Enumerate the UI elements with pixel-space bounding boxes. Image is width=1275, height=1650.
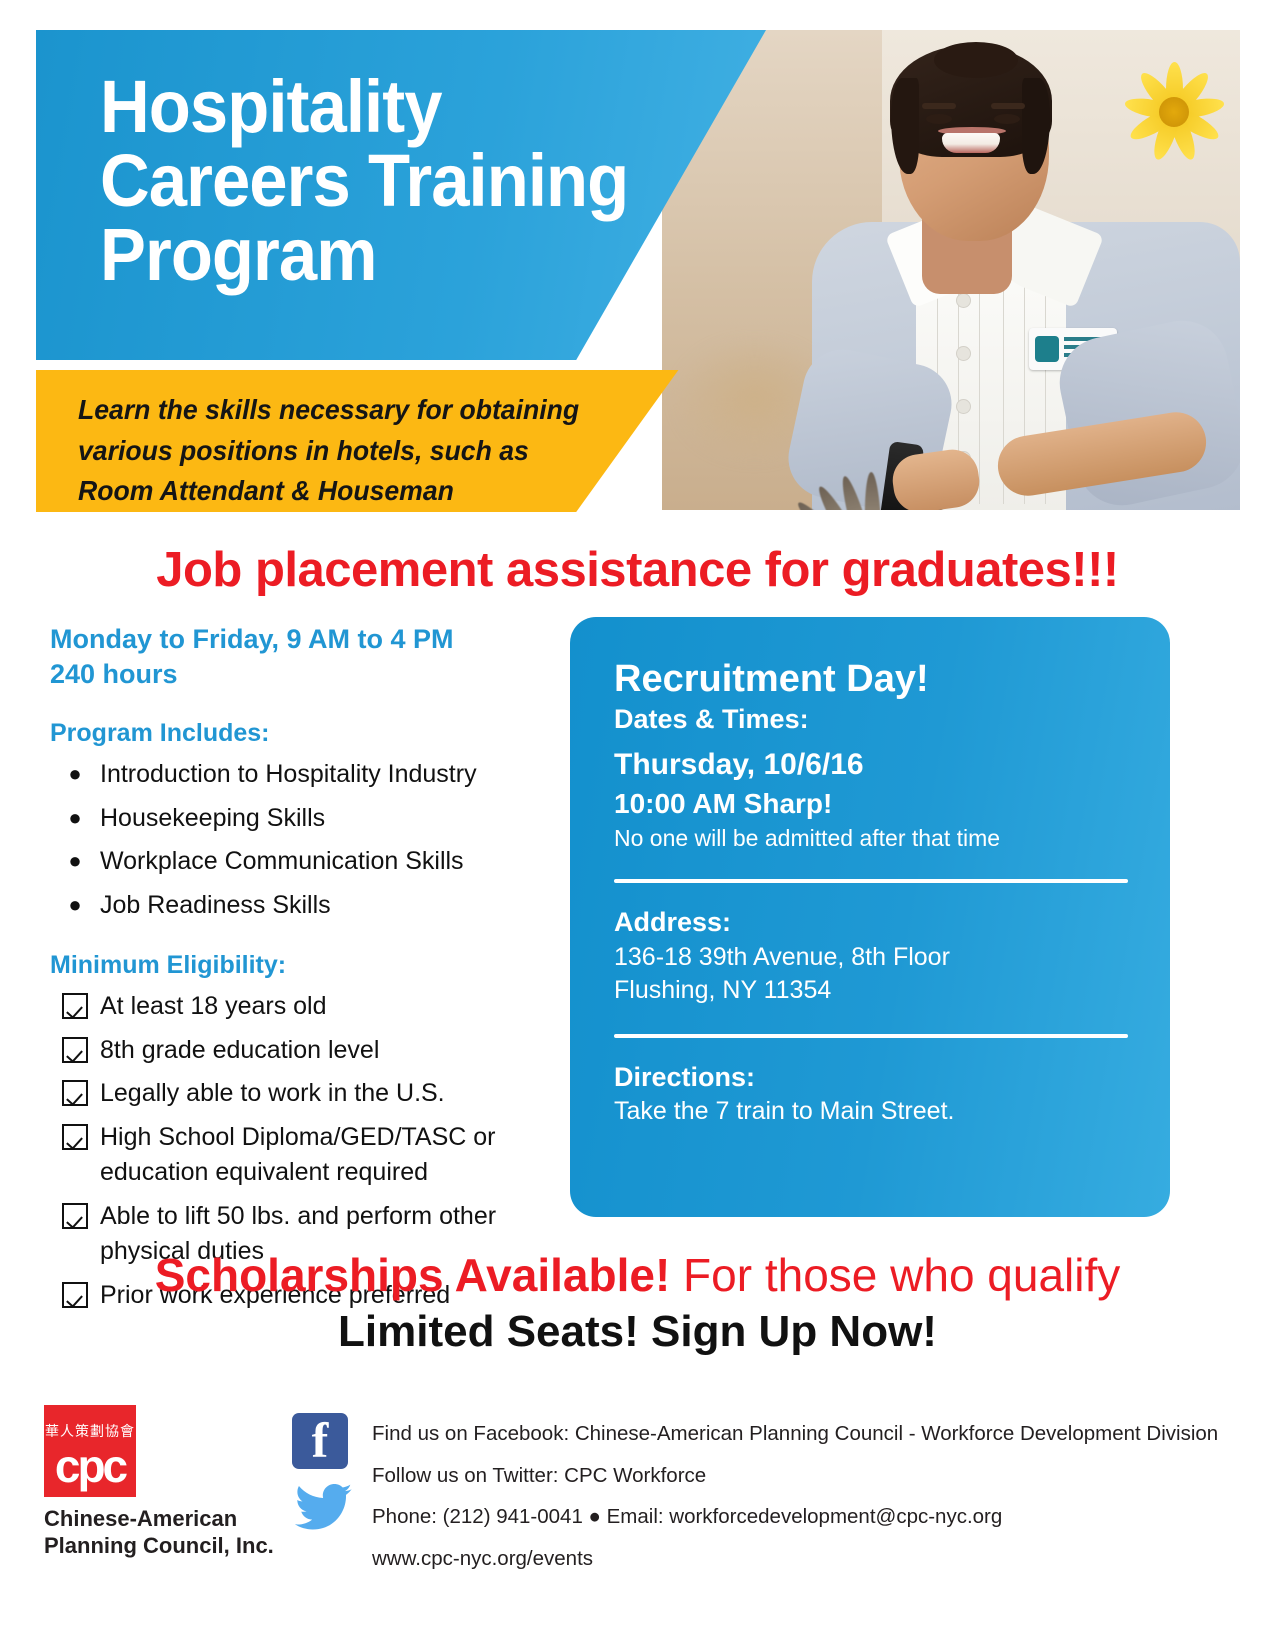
- divider: [614, 1034, 1128, 1038]
- checkbox-checked-icon: [50, 1076, 100, 1106]
- cpc-logo-hanzi: 華人策劃協會: [44, 1421, 136, 1441]
- job-placement-banner: Job placement assistance for graduates!!…: [0, 542, 1275, 598]
- scholarship-regular: For those who qualify: [670, 1249, 1120, 1301]
- directions-label: Directions:: [614, 1060, 1128, 1095]
- address-line-2: Flushing, NY 11354: [614, 974, 1128, 1008]
- program-includes-list: ● Introduction to Hospitality Industry ●…: [50, 757, 550, 923]
- smile: [942, 133, 1000, 153]
- list-item: ● Housekeeping Skills: [50, 801, 550, 837]
- program-item-label: Workplace Communication Skills: [100, 844, 550, 880]
- eligibility-item-label: At least 18 years old: [100, 989, 550, 1025]
- title-line-2: Careers Training: [100, 144, 751, 218]
- title-line-1: Hospitality: [100, 70, 751, 144]
- checkbox-checked-icon: [50, 1199, 100, 1229]
- eligibility-item-label: High School Diploma/GED/TASC or educatio…: [100, 1120, 550, 1191]
- recruitment-day-box: Recruitment Day! Dates & Times: Thursday…: [570, 617, 1170, 1217]
- directions-line: Take the 7 train to Main Street.: [614, 1095, 1128, 1129]
- list-item: ● Workplace Communication Skills: [50, 844, 550, 880]
- bullet-icon: ●: [50, 844, 100, 877]
- social-icons: [292, 1413, 356, 1535]
- eligibility-item-label: 8th grade education level: [100, 1033, 550, 1069]
- bullet-icon: ●: [50, 888, 100, 921]
- subtitle-line-1: Learn the skills necessary for obtaining: [78, 390, 686, 431]
- schedule-line-2: 240 hours: [50, 657, 550, 692]
- cpc-logo: 華人策劃協會 cpc Chinese-American Planning Cou…: [44, 1405, 289, 1560]
- cpc-org-name-line-1: Chinese-American: [44, 1506, 289, 1533]
- scholarship-bold: Scholarships Available!: [155, 1249, 671, 1301]
- bullet-icon: ●: [50, 757, 100, 790]
- recruitment-date: Thursday, 10/6/16: [614, 745, 1128, 785]
- schedule-block: Monday to Friday, 9 AM to 4 PM 240 hours: [50, 622, 550, 691]
- website-line[interactable]: www.cpc-nyc.org/events: [372, 1538, 1232, 1580]
- recruitment-time: 10:00 AM Sharp!: [614, 785, 1128, 823]
- facebook-icon[interactable]: [292, 1413, 348, 1469]
- checkbox-checked-icon: [50, 1033, 100, 1063]
- schedule-line-1: Monday to Friday, 9 AM to 4 PM: [50, 622, 550, 657]
- subtitle-line-2: various positions in hotels, such as: [78, 431, 686, 472]
- scholarship-line: Scholarships Available! For those who qu…: [0, 1248, 1275, 1302]
- title-line-3: Program: [100, 218, 751, 292]
- cpc-logo-letters: cpc: [44, 1443, 136, 1489]
- list-item: ● Introduction to Hospitality Industry: [50, 757, 550, 793]
- address-label: Address:: [614, 905, 1128, 940]
- scholarship-block: Scholarships Available! For those who qu…: [0, 1248, 1275, 1359]
- header-section: Hospitality Careers Training Program Lea…: [0, 0, 1275, 520]
- eligibility-item-label: Legally able to work in the U.S.: [100, 1076, 550, 1112]
- dates-times-label: Dates & Times:: [614, 701, 1128, 737]
- bullet-icon: ●: [50, 801, 100, 834]
- subtitle-line-3: Room Attendant & Houseman: [78, 471, 686, 512]
- page-title: Hospitality Careers Training Program: [100, 70, 751, 292]
- divider: [614, 879, 1128, 883]
- program-includes-heading: Program Includes:: [50, 717, 550, 749]
- program-item-label: Housekeeping Skills: [100, 801, 550, 837]
- list-item: High School Diploma/GED/TASC or educatio…: [50, 1120, 550, 1191]
- limited-seats-line: Limited Seats! Sign Up Now!: [0, 1306, 1275, 1359]
- left-column: Monday to Friday, 9 AM to 4 PM 240 hours…: [50, 622, 550, 1321]
- subtitle: Learn the skills necessary for obtaining…: [78, 390, 686, 512]
- list-item: ● Job Readiness Skills: [50, 888, 550, 924]
- contact-info: Find us on Facebook: Chinese-American Pl…: [372, 1413, 1232, 1579]
- admittance-note: No one will be admitted after that time: [614, 823, 1128, 854]
- list-item: 8th grade education level: [50, 1033, 550, 1069]
- yellow-flower: [1114, 52, 1234, 172]
- cpc-org-name-line-2: Planning Council, Inc.: [44, 1533, 289, 1560]
- eligibility-heading: Minimum Eligibility:: [50, 949, 550, 981]
- recruitment-title: Recruitment Day!: [614, 659, 1128, 701]
- cpc-logo-mark: 華人策劃協會 cpc: [44, 1405, 136, 1497]
- list-item: At least 18 years old: [50, 989, 550, 1025]
- checkbox-checked-icon: [50, 989, 100, 1019]
- footer-section: 華人策劃協會 cpc Chinese-American Planning Cou…: [0, 1395, 1275, 1625]
- facebook-line: Find us on Facebook: Chinese-American Pl…: [372, 1413, 1232, 1455]
- title-banner: Hospitality Careers Training Program: [36, 30, 766, 360]
- checkbox-checked-icon: [50, 1120, 100, 1150]
- subtitle-banner: Learn the skills necessary for obtaining…: [36, 370, 766, 512]
- cpc-org-name: Chinese-American Planning Council, Inc.: [44, 1506, 289, 1560]
- program-item-label: Job Readiness Skills: [100, 888, 550, 924]
- phone-email-line: Phone: (212) 941-0041 ● Email: workforce…: [372, 1496, 1232, 1538]
- list-item: Legally able to work in the U.S.: [50, 1076, 550, 1112]
- address-line-1: 136-18 39th Avenue, 8th Floor: [614, 941, 1128, 975]
- twitter-line: Follow us on Twitter: CPC Workforce: [372, 1455, 1232, 1497]
- twitter-icon[interactable]: [292, 1483, 354, 1535]
- program-item-label: Introduction to Hospitality Industry: [100, 757, 550, 793]
